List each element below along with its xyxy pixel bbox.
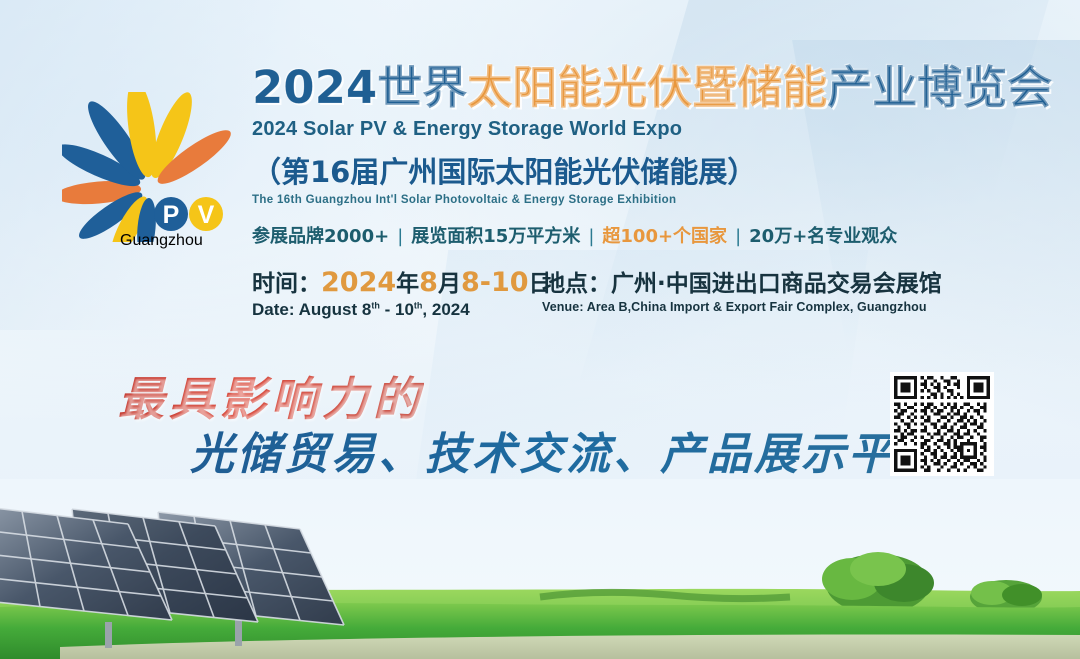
date-label-cn: 时间： (252, 271, 321, 297)
venue-line-english: Venue: Area B,China Import & Export Fair… (542, 300, 942, 314)
venue-label-cn: 地点： (542, 271, 611, 297)
svg-text:P: P (163, 201, 180, 229)
qr-code-icon (894, 376, 990, 472)
subtitle-chinese: （第16届广州国际太阳能光伏储能展） (252, 149, 1052, 191)
venue-block: 地点：广州·中国进出口商品交易会展馆 Venue: Area B,China I… (542, 264, 942, 314)
venue-line-chinese: 地点：广州·中国进出口商品交易会展馆 (542, 264, 942, 298)
stat-countries: 超100+个国家 (602, 226, 727, 247)
date-venue-row: 时间：2024年8月8-10日 Date: August 8th - 10th,… (252, 264, 1052, 320)
logo-city-label: Guangzhou (120, 232, 203, 249)
stat-separator-1: | (397, 226, 403, 247)
venue-value-cn: 广州·中国进出口商品交易会展馆 (611, 271, 942, 297)
stat-visitors: 20万+名专业观众 (749, 226, 897, 247)
main-title-part2: 太阳能光伏暨储能 (467, 61, 827, 114)
stat-area: 展览面积15万平方米 (411, 226, 580, 247)
stat-brands: 参展品牌2000+ (252, 226, 389, 247)
date-dash-en: - (385, 300, 391, 319)
date-day2-en: 10 (395, 300, 414, 319)
main-title: 2024世界太阳能光伏暨储能产业博览会 (252, 62, 1052, 114)
main-title-part1: 2024世界 (252, 61, 467, 114)
stats-line: 参展品牌2000+|展览面积15万平方米|超100+个国家|20万+名专业观众 (252, 222, 1052, 248)
date-day1-en: 8 (362, 300, 371, 319)
qr-code-image[interactable] (890, 372, 994, 476)
stat-separator-2: | (588, 226, 594, 247)
date-year: 2024 (321, 267, 396, 298)
date-month: 8 (419, 267, 438, 298)
stat-separator-3: | (735, 226, 741, 247)
bottom-scenery (0, 479, 1080, 659)
sunburst-icon: P V (62, 92, 242, 242)
date-year-en: , 2024 (422, 300, 469, 319)
main-title-english: 2024 Solar PV & Energy Storage World Exp… (252, 118, 1052, 141)
date-line-chinese: 时间：2024年8月8-10日 (252, 264, 532, 298)
date-month-en: August (299, 300, 358, 319)
date-days: 8-10 (461, 267, 529, 298)
pv-guangzhou-logo: P V Guangzhou (62, 92, 242, 282)
expo-poster: P V Guangzhou 2024世界太阳能光伏暨储能产业博览会 2024 S… (0, 0, 1080, 659)
date-block: 时间：2024年8月8-10日 Date: August 8th - 10th,… (252, 264, 532, 320)
svg-text:V: V (198, 201, 215, 229)
subtitle-english: The 16th Guangzhou Int'l Solar Photovolt… (252, 194, 1052, 206)
date-label-en: Date: (252, 300, 295, 319)
date-year-unit: 年 (396, 271, 419, 297)
headline-block: 2024世界太阳能光伏暨储能产业博览会 2024 Solar PV & Ener… (252, 62, 1052, 320)
slogan-line-2: 光储贸易、技术交流、产品展示平台！ (190, 418, 989, 482)
main-title-part3: 产业博览会 (827, 61, 1052, 114)
date-line-english: Date: August 8th - 10th, 2024 (252, 300, 532, 320)
date-month-unit: 月 (438, 271, 461, 297)
date-day1-suffix: th (371, 300, 380, 310)
